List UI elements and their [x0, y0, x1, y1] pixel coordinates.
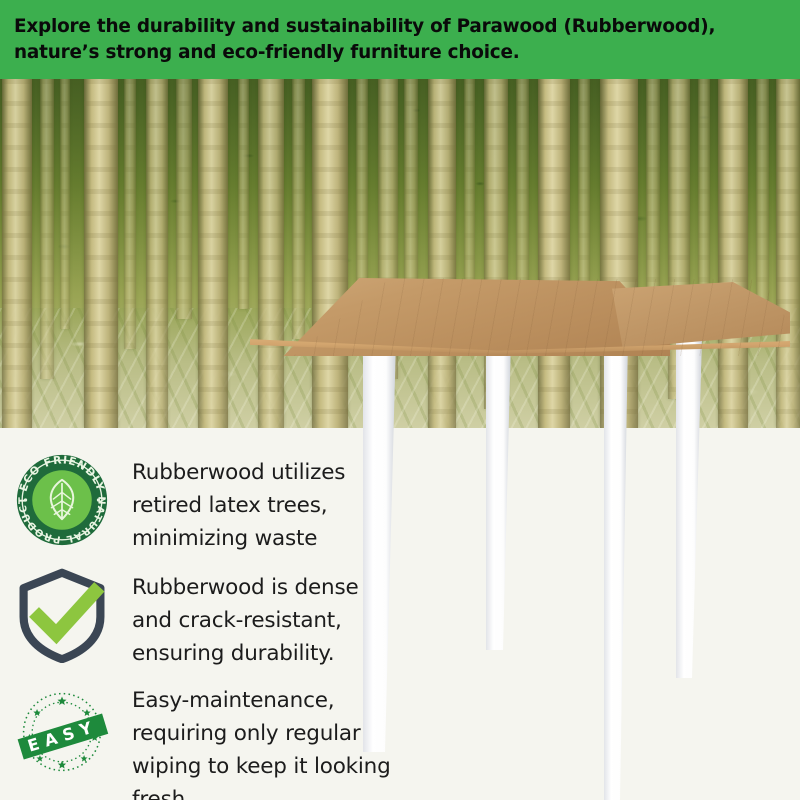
header-banner: Explore the durability and sustainabilit…: [0, 0, 800, 79]
eco-friendly-seal-icon: ECO FRIENDLY NATURAL PRODUCT: [14, 452, 110, 548]
headline-text: Explore the durability and sustainabilit…: [0, 14, 725, 66]
tree-trunk: [292, 79, 305, 339]
tree-trunk: [484, 79, 508, 409]
feature-text-durability: Rubberwood is dense and crack-resistant,…: [110, 567, 358, 670]
tree-trunk: [40, 79, 54, 379]
tree-trunk: [600, 79, 638, 428]
tree-trunk: [464, 79, 475, 299]
tree-trunk: [578, 79, 590, 319]
tree-trunk: [146, 79, 168, 428]
feature-text-easy-maintenance: Easy-maintenance, requiring only regular…: [110, 680, 391, 800]
tree-trunk: [124, 79, 136, 349]
tree-trunk: [312, 79, 348, 428]
hero-photo: [0, 79, 800, 428]
tree-trunk: [198, 79, 228, 428]
tree-trunk: [258, 79, 284, 428]
tree-trunk: [698, 79, 710, 309]
easy-stamp-icon: EASY: [14, 684, 110, 780]
tree-trunk: [60, 79, 70, 329]
tree-trunk: [668, 79, 690, 399]
tree-trunk: [516, 79, 529, 329]
feature-list: ECO FRIENDLY NATURAL PRODUCT Rubberwood …: [0, 428, 800, 800]
tree-trunk: [646, 79, 660, 339]
tree-trunk: [356, 79, 368, 319]
tree-trunk: [756, 79, 769, 329]
tree-trunk: [84, 79, 118, 428]
tree-trunk: [378, 79, 398, 379]
tree-trunk: [2, 79, 32, 428]
tree-trunk: [718, 79, 748, 428]
tree-trunk: [404, 79, 418, 329]
tree-trunk: [176, 79, 192, 319]
infographic-canvas: Explore the durability and sustainabilit…: [0, 0, 800, 800]
feature-text-eco-friendly: Rubberwood utilizes retired latex trees,…: [110, 452, 345, 555]
tree-trunk: [538, 79, 570, 428]
check-mark: [39, 592, 95, 634]
tree-trunk: [776, 79, 800, 428]
feature-item-eco-friendly: ECO FRIENDLY NATURAL PRODUCT Rubberwood …: [14, 452, 345, 555]
tree-trunk: [428, 79, 456, 428]
tree-trunk: [238, 79, 249, 309]
forest-background-image: [0, 79, 800, 428]
feature-item-easy-maintenance: EASY Easy-maintenance, requiring only re…: [14, 680, 391, 800]
stamp-label: EASY: [25, 716, 100, 755]
shield-check-icon: [14, 567, 110, 663]
feature-item-durability: Rubberwood is dense and crack-resistant,…: [14, 567, 358, 670]
